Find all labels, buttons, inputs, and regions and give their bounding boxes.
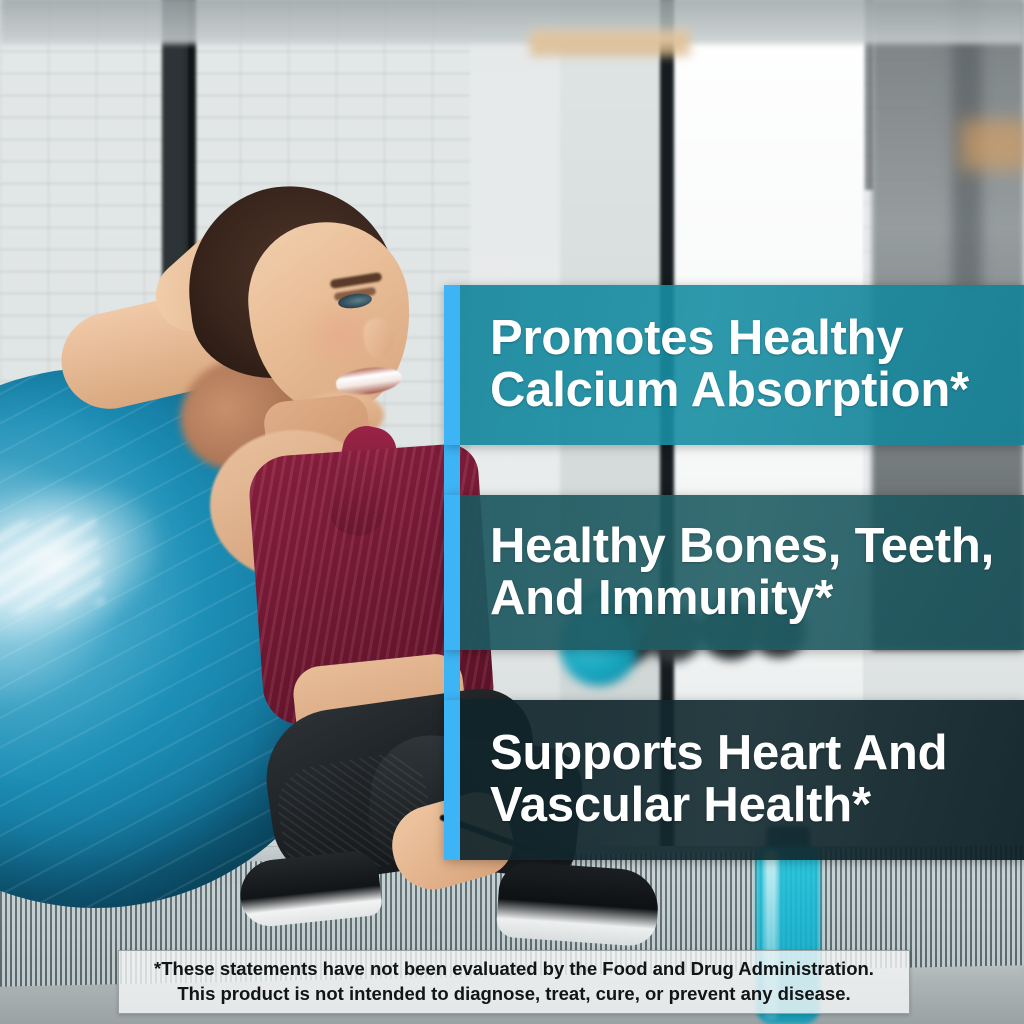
benefit-banner-3: Supports Heart And Vascular Health* bbox=[444, 700, 1024, 860]
ceiling-warm-light-2 bbox=[960, 120, 1024, 170]
benefit-banner-2-text: Healthy Bones, Teeth, And Immunity* bbox=[490, 521, 994, 625]
exercise-ball-window-reflection bbox=[0, 514, 104, 616]
benefit-banner-1: Promotes Healthy Calcium Absorption* bbox=[444, 285, 1024, 445]
marketing-image: Promotes Healthy Calcium Absorption* Hea… bbox=[0, 0, 1024, 1024]
benefit-banner-1-text: Promotes Healthy Calcium Absorption* bbox=[490, 313, 969, 417]
ceiling-beam bbox=[0, 0, 1024, 44]
banner-1-accent-bar bbox=[444, 285, 460, 445]
disclaimer-line-2: This product is not intended to diagnose… bbox=[177, 982, 850, 1007]
disclaimer-line-1: *These statements have not been evaluate… bbox=[154, 957, 874, 982]
fda-disclaimer-box: *These statements have not been evaluate… bbox=[118, 950, 910, 1014]
benefit-banner-2: Healthy Bones, Teeth, And Immunity* bbox=[444, 495, 1024, 650]
banner-3-accent-bar bbox=[444, 700, 460, 860]
banner-2-accent-bar bbox=[444, 495, 460, 650]
sneaker-right bbox=[496, 861, 661, 948]
benefit-banner-3-text: Supports Heart And Vascular Health* bbox=[490, 728, 947, 832]
ceiling-warm-light bbox=[530, 30, 690, 56]
